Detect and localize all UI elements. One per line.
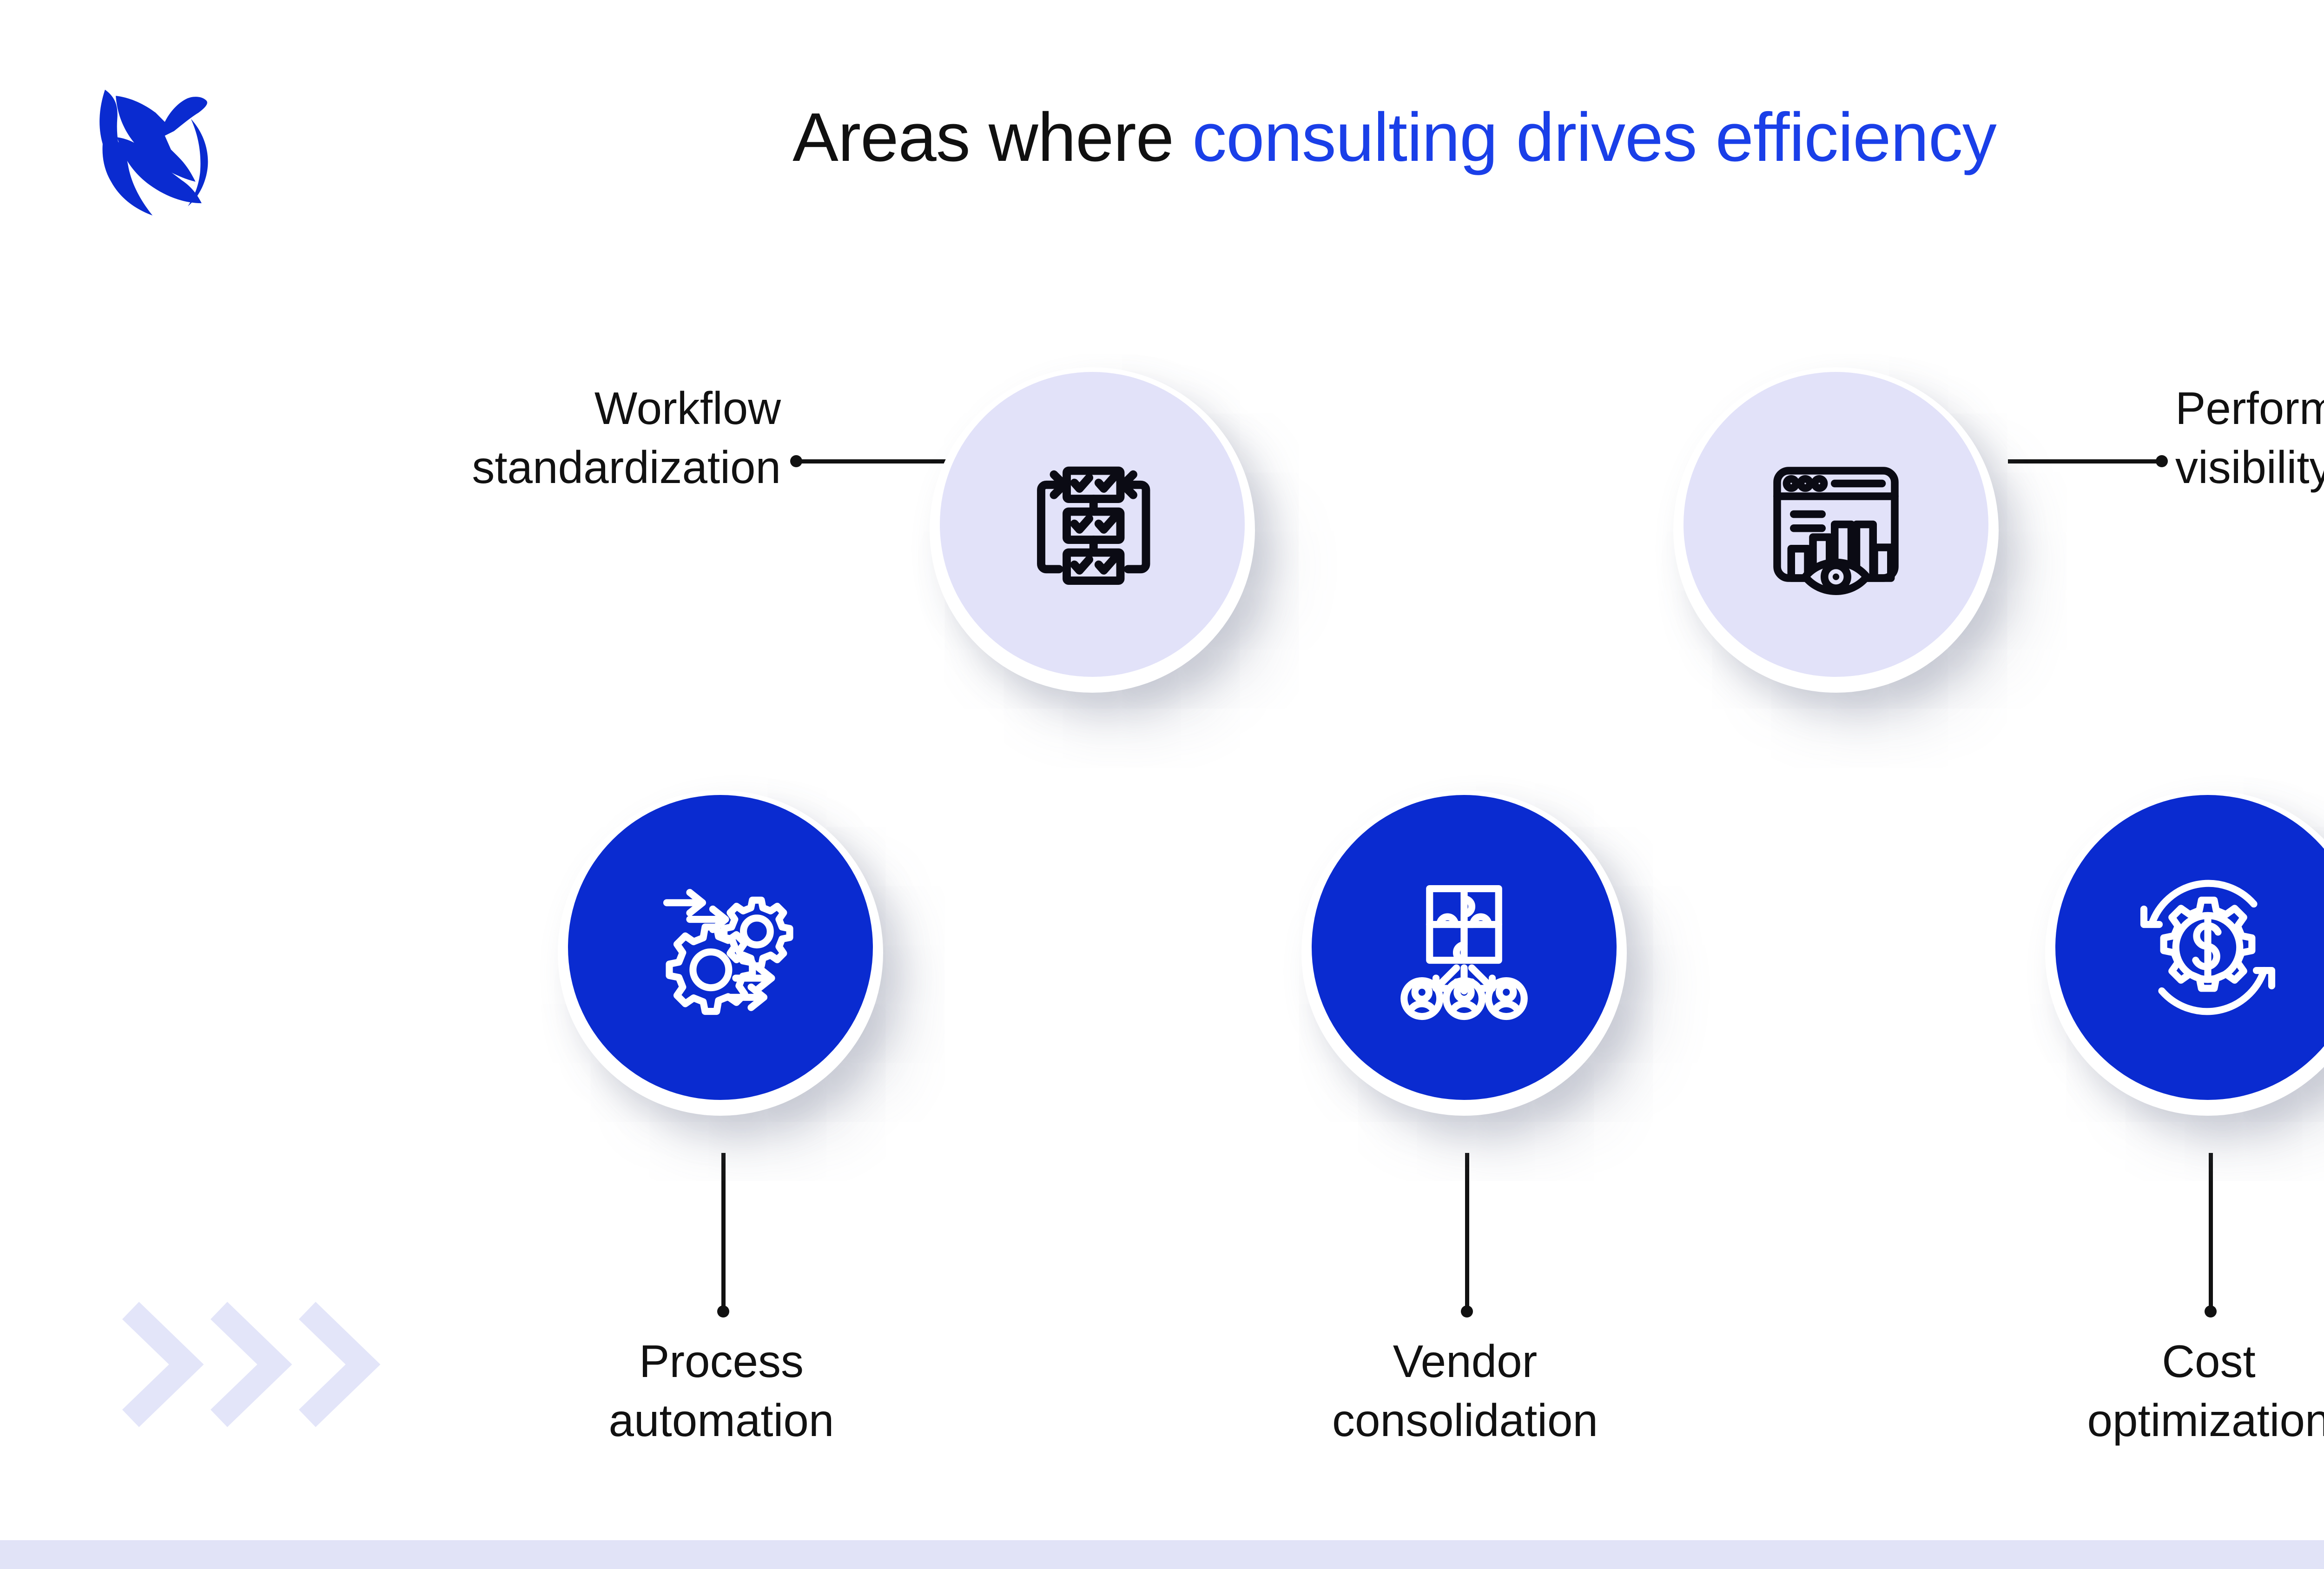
connector-dot-workflow-standardization [790, 455, 802, 467]
label-line1: Vendor [1186, 1332, 1744, 1391]
connector-dot-vendor-consolidation [1461, 1305, 1473, 1317]
label-line2: automation [442, 1391, 1000, 1450]
gear-dollar-cycle-icon [2131, 871, 2284, 1024]
node-vendor-consolidation[interactable] [1301, 790, 1627, 1116]
connector-performance-visibility [2008, 459, 2166, 463]
label-workflow-standardization: Workflow standardization [232, 379, 781, 497]
label-line1: Performance [2175, 379, 2324, 438]
puzzle-people-icon [1387, 871, 1541, 1024]
label-line1: Workflow [232, 379, 781, 438]
node-cost-optimization[interactable] [2045, 790, 2324, 1116]
label-line2: standardization [232, 438, 781, 497]
node-disc-workflow-standardization[interactable] [940, 372, 1245, 677]
node-disc-process-automation[interactable] [568, 795, 873, 1100]
node-performance-visibility[interactable] [1673, 367, 1999, 693]
label-process-automation: Process automation [442, 1332, 1000, 1450]
node-process-automation[interactable] [558, 790, 883, 1116]
page-title-black: Areas where [792, 99, 1192, 176]
label-line2: visibility [2175, 438, 2324, 497]
label-line2: consolidation [1186, 1391, 1744, 1450]
gears-arrows-icon [644, 871, 797, 1024]
dashboard-chart-eye-icon [1759, 448, 1913, 601]
page-title-blue: consulting drives efficiency [1192, 99, 1996, 176]
connector-dot-cost-optimization [2205, 1305, 2217, 1317]
page-title: Areas where consulting drives efficiency [0, 100, 2324, 176]
bottom-accent-bar [0, 1540, 2324, 1569]
node-workflow-standardization[interactable] [930, 367, 1255, 693]
label-cost-optimization: Cost optimization [1930, 1332, 2324, 1450]
label-line1: Process [442, 1332, 1000, 1391]
node-disc-performance-visibility[interactable] [1684, 372, 1988, 677]
label-vendor-consolidation: Vendor consolidation [1186, 1332, 1744, 1450]
label-line2: optimization [1930, 1391, 2324, 1450]
workflow-checklist-loop-icon [1016, 448, 1169, 601]
connector-vendor-consolidation [1465, 1153, 1469, 1313]
connector-dot-process-automation [717, 1305, 729, 1317]
label-line1: Cost [1930, 1332, 2324, 1391]
connector-process-automation [721, 1153, 726, 1313]
node-disc-vendor-consolidation[interactable] [1312, 795, 1617, 1100]
label-performance-visibility: Performance visibility [2175, 379, 2324, 497]
connector-dot-performance-visibility [2156, 455, 2168, 467]
chevrons-decoration [114, 1290, 393, 1439]
connector-cost-optimization [2209, 1153, 2213, 1313]
